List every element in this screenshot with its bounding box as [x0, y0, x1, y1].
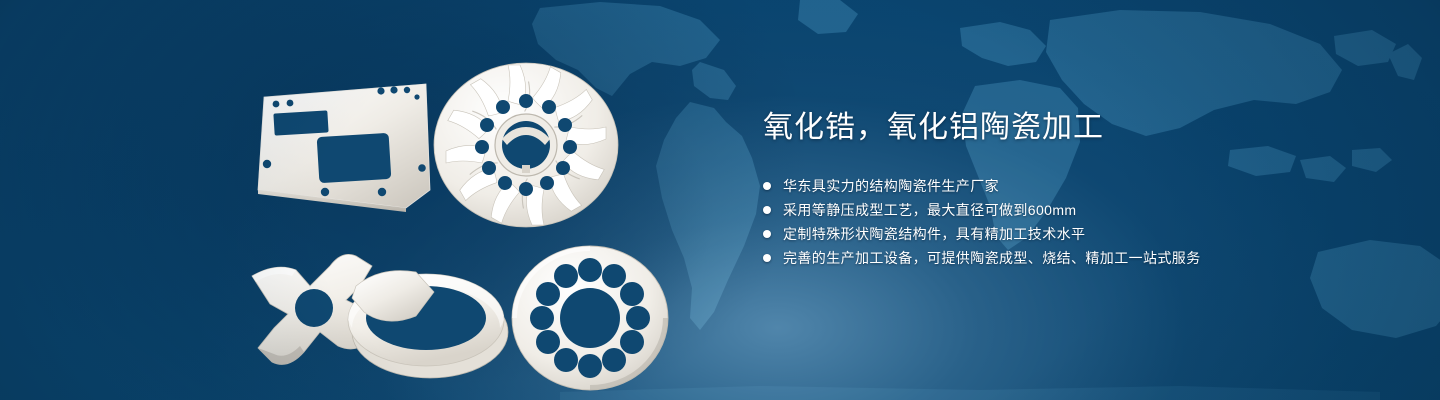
list-item-label: 采用等静压成型工艺，最大直径可做到600mm: [783, 200, 1076, 220]
feature-list: 华东具实力的结构陶瓷件生产厂家 采用等静压成型工艺，最大直径可做到600mm 定…: [763, 174, 1383, 269]
bullet-dot-icon: [763, 254, 771, 262]
bullet-dot-icon: [763, 182, 771, 190]
bullet-dot-icon: [763, 206, 771, 214]
hero-banner: 氧化锆，氧化铝陶瓷加工 华东具实力的结构陶瓷件生产厂家 采用等静压成型工艺，最大…: [0, 0, 1440, 400]
page-title: 氧化锆，氧化铝陶瓷加工: [763, 108, 1383, 148]
list-item: 华东具实力的结构陶瓷件生产厂家: [763, 174, 1383, 197]
list-item-label: 定制特殊形状陶瓷结构件，具有精加工技术水平: [783, 224, 1085, 244]
list-item: 采用等静压成型工艺，最大直径可做到600mm: [763, 198, 1383, 221]
bullet-dot-icon: [763, 230, 771, 238]
list-item: 完善的生产加工设备，可提供陶瓷成型、烧结、精加工一站式服务: [763, 246, 1383, 269]
list-item-label: 完善的生产加工设备，可提供陶瓷成型、烧结、精加工一站式服务: [783, 248, 1201, 268]
list-item: 定制特殊形状陶瓷结构件，具有精加工技术水平: [763, 222, 1383, 245]
list-item-label: 华东具实力的结构陶瓷件生产厂家: [783, 176, 999, 196]
banner-copy: 氧化锆，氧化铝陶瓷加工 华东具实力的结构陶瓷件生产厂家 采用等静压成型工艺，最大…: [763, 108, 1383, 270]
